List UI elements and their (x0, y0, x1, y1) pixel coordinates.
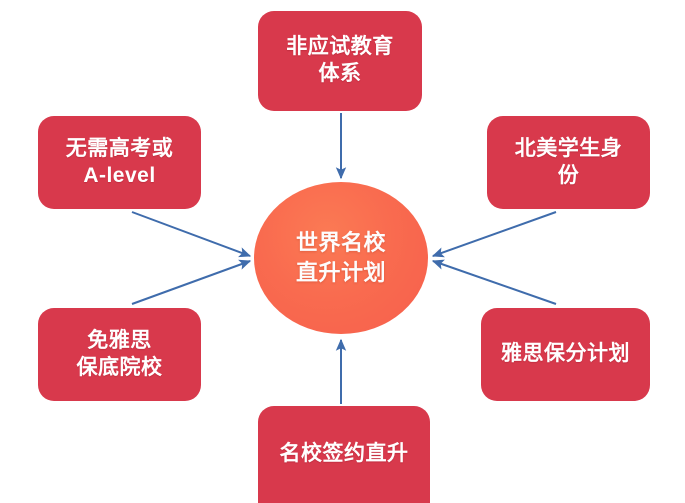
hub-node-label: 世界名校 直升计划 (296, 228, 386, 289)
satellite-node-no-gaokao-or-a-level[interactable]: 无需高考或 A-level (38, 116, 201, 209)
arrow-bottom-right-to-hub (433, 261, 556, 304)
satellite-node-ielts-waiver-safety-school[interactable]: 免雅思 保底院校 (38, 308, 201, 401)
satellite-line-1: 无需高考或 (66, 136, 174, 163)
satellite-node-label: 免雅思 保底院校 (77, 328, 163, 382)
satellite-node-label: 北美学生身 份 (515, 136, 623, 190)
arrow-top-right-to-hub (433, 212, 556, 256)
satellite-node-signed-direct-admission-top-schools[interactable]: 名校签约直升 (258, 406, 430, 503)
hub-node-line-2: 直升计划 (296, 258, 386, 288)
satellite-node-label: 非应试教育 体系 (286, 34, 394, 88)
diagram-canvas: 世界名校 直升计划 非应试教育 体系 无需高考或 A-level 北美学生身 份… (0, 0, 685, 503)
satellite-line-1: 名校签约直升 (280, 441, 409, 468)
arrow-bottom-left-to-hub (132, 261, 250, 304)
satellite-line-2: A-level (66, 163, 174, 190)
arrow-top-left-to-hub (132, 212, 250, 256)
satellite-node-ielts-score-guarantee-plan[interactable]: 雅思保分计划 (481, 308, 650, 401)
satellite-line-2: 体系 (286, 61, 394, 88)
satellite-line-1: 非应试教育 (286, 34, 394, 61)
satellite-node-label: 无需高考或 A-level (66, 136, 174, 190)
satellite-node-north-america-student-status[interactable]: 北美学生身 份 (487, 116, 650, 209)
satellite-node-non-exam-education-system[interactable]: 非应试教育 体系 (258, 11, 422, 111)
satellite-line-2: 保底院校 (77, 355, 163, 382)
satellite-line-2: 份 (515, 163, 623, 190)
satellite-node-label: 雅思保分计划 (501, 341, 630, 368)
satellite-line-1: 雅思保分计划 (501, 341, 630, 368)
satellite-line-1: 免雅思 (77, 328, 163, 355)
hub-node-line-1: 世界名校 (296, 228, 386, 258)
satellite-node-label: 名校签约直升 (280, 441, 409, 468)
satellite-line-1: 北美学生身 (515, 136, 623, 163)
hub-node-world-top-schools[interactable]: 世界名校 直升计划 (254, 182, 428, 334)
